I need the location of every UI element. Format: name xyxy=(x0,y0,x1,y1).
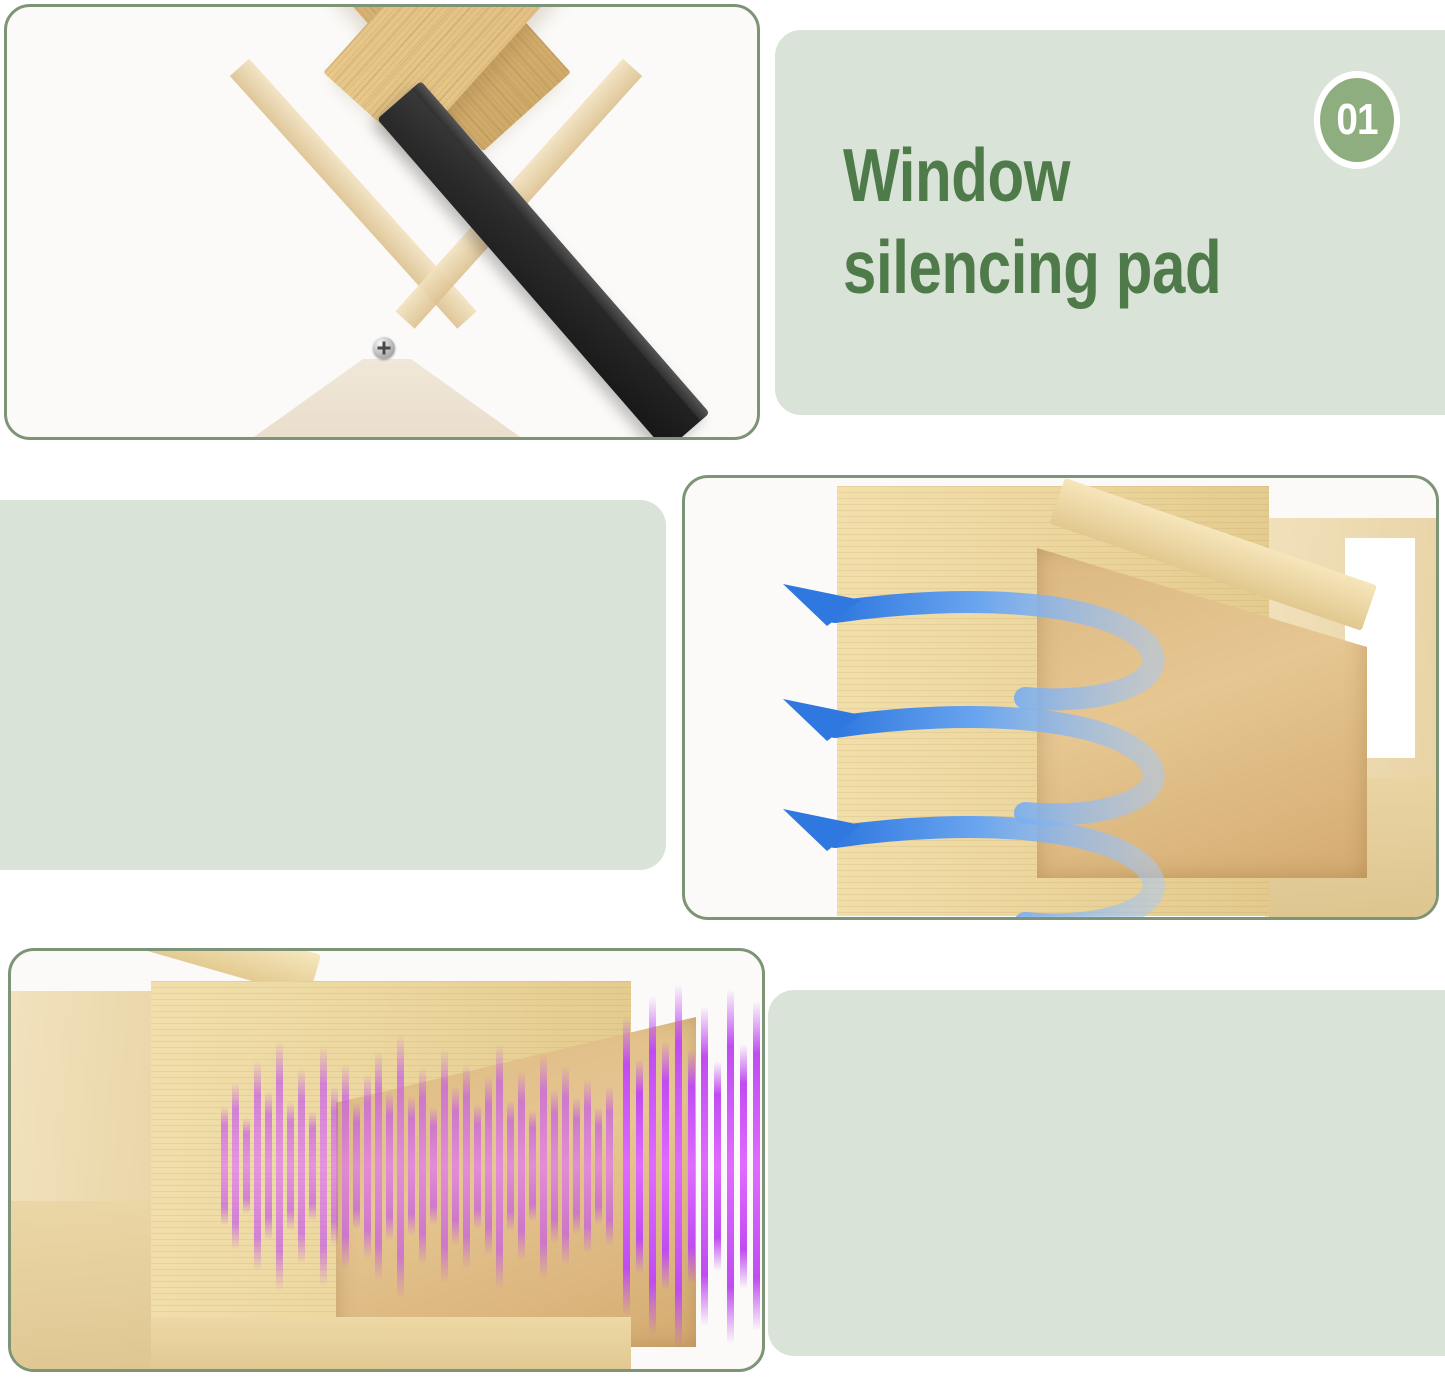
sound-wave-bar xyxy=(540,1054,547,1279)
sound-wave-bar xyxy=(298,1068,305,1264)
sound-wave-bar xyxy=(419,1067,426,1265)
sound-wave-bar xyxy=(474,1104,481,1229)
sound-wave-bar xyxy=(688,1049,695,1284)
feature-photo-card-3 xyxy=(8,948,765,1372)
sound-wave-bar xyxy=(408,1096,415,1236)
sound-wave-bar xyxy=(320,1046,327,1286)
feature-text-card-3: 03 Excellent acoustic insulation xyxy=(768,990,1445,1356)
sound-wave-bar xyxy=(243,1118,250,1214)
sound-wave-bar xyxy=(753,1001,760,1331)
sound-wave-bar xyxy=(701,1006,708,1326)
sound-wave-bar xyxy=(518,1071,525,1261)
feature-headline-1: Window silencing pad xyxy=(843,130,1221,313)
sound-wave-bar xyxy=(342,1064,349,1269)
feature-headline-1-line1: Window xyxy=(843,133,1070,217)
sound-wave-bar xyxy=(287,1101,294,1231)
sound-wave-bar xyxy=(496,1044,503,1289)
feature-photo-card-1 xyxy=(4,4,760,440)
sound-wave-bar xyxy=(485,1076,492,1256)
wooden-gable-illustration xyxy=(7,7,757,437)
screw-head-icon xyxy=(373,337,395,359)
sound-wave-bar xyxy=(397,1034,404,1299)
sound-wave-bar xyxy=(623,1016,630,1316)
sound-wave-bar xyxy=(649,996,656,1336)
sound-wave-bar xyxy=(606,1086,613,1246)
sound-wave-bar xyxy=(562,1066,569,1266)
sound-wave-bar xyxy=(727,989,734,1344)
sound-wave-bar xyxy=(232,1082,239,1250)
feature-photo-card-2 xyxy=(682,475,1439,920)
house-skirt-icon xyxy=(151,1317,631,1372)
sound-wave-bar xyxy=(276,1041,283,1291)
sound-wave-bar xyxy=(375,1051,382,1281)
sound-wave-bar xyxy=(430,1107,437,1225)
sound-wave-bar xyxy=(265,1091,272,1241)
sound-wave-bar xyxy=(636,1059,643,1274)
sound-wave-bar xyxy=(740,1044,747,1289)
sound-wave-bar xyxy=(254,1061,261,1271)
sound-wave-bar xyxy=(573,1097,580,1235)
sound-wave-bar xyxy=(529,1110,536,1222)
sound-wave-bar xyxy=(595,1107,602,1225)
feature-number-badge-1: 01 xyxy=(1320,78,1394,162)
sound-wave-bar xyxy=(353,1102,360,1230)
window-pane-icon xyxy=(237,359,537,440)
heat-arrow-icon xyxy=(775,803,1295,920)
sound-wave-bar xyxy=(507,1100,514,1232)
sound-wave-bar xyxy=(331,1086,338,1246)
sound-wave-bar xyxy=(221,1106,228,1226)
sound-wave-bar xyxy=(441,1049,448,1284)
sound-wave-bar xyxy=(714,1061,721,1271)
sound-wave-bar xyxy=(584,1079,591,1254)
sound-wave-bar xyxy=(364,1074,371,1259)
house-floor-icon xyxy=(11,1201,171,1372)
sound-wave-bar xyxy=(551,1089,558,1244)
sound-wave-bar xyxy=(463,1064,470,1269)
sound-wave-bar xyxy=(386,1091,393,1241)
sound-wave-bar xyxy=(309,1111,316,1221)
sound-wave-bar xyxy=(662,1041,669,1291)
feature-text-card-1: 01 Window silencing pad xyxy=(775,30,1445,415)
sound-wave-bar xyxy=(675,984,682,1349)
feature-headline-1-line2: silencing pad xyxy=(843,222,1221,314)
sound-wave-bar xyxy=(452,1086,459,1246)
feature-text-card-2: 02 Exceptional heat retention xyxy=(0,500,666,870)
